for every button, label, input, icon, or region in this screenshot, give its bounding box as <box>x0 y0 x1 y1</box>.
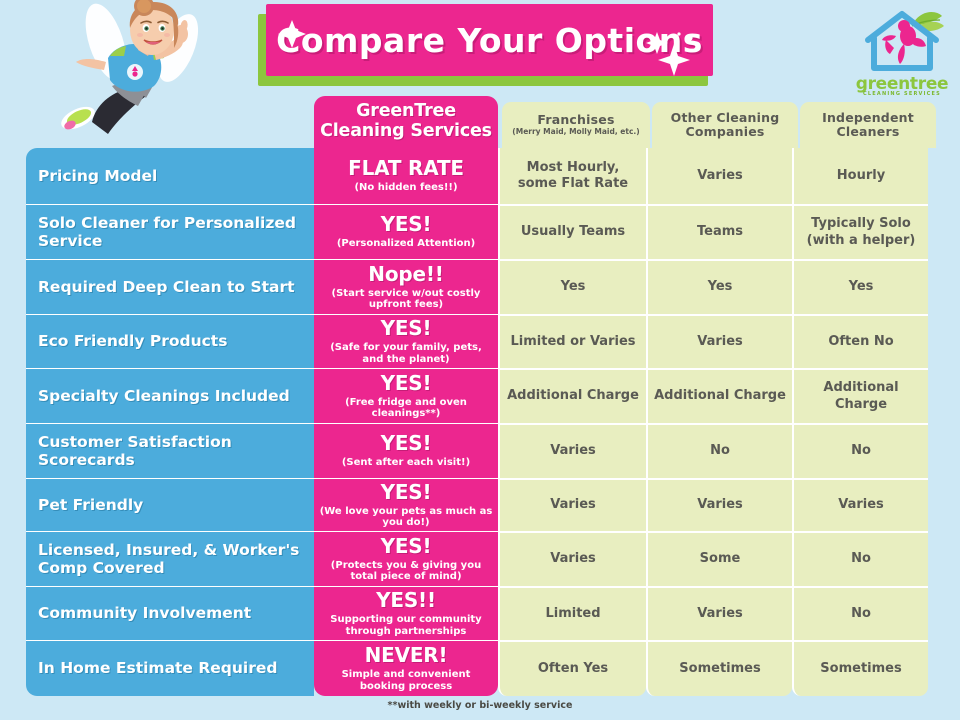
greentree-answer-sub: (No hidden fees!!) <box>354 182 457 194</box>
other-companies-answer-cell: No <box>646 423 792 478</box>
independent-answer-cell: No <box>792 423 928 478</box>
franchises-answer-cell: Additional Charge <box>498 368 646 423</box>
greentree-answer-cell: YES!(Protects you & giving you total pie… <box>314 531 498 586</box>
greentree-answer-main: YES!! <box>376 590 436 611</box>
independent-answer-cell: Hourly <box>792 148 928 204</box>
greentree-answer-cell: YES!!Supporting our community through pa… <box>314 586 498 640</box>
feature-label-cell: Eco Friendly Products <box>26 314 314 368</box>
greentree-answer-cell: YES!(Safe for your family, pets, and the… <box>314 314 498 368</box>
other-companies-answer-cell: Sometimes <box>646 640 792 696</box>
greentree-logo: greentree CLEANING SERVICES <box>852 6 952 104</box>
greentree-answer-cell: YES!(Personalized Attention) <box>314 204 498 259</box>
greentree-answer-sub: (Sent after each visit!) <box>342 457 470 469</box>
table-row: Solo Cleaner for Personalized ServiceYES… <box>26 204 936 259</box>
greentree-answer-sub: (Free fridge and oven cleanings**) <box>319 397 493 420</box>
independent-answer-cell: No <box>792 586 928 640</box>
greentree-answer-sub: Simple and convenient booking process <box>319 669 493 692</box>
column-header-other-cleaning-companies: Other Cleaning Companies <box>652 102 798 148</box>
greentree-answer-main: YES! <box>381 433 432 454</box>
greentree-answer-cell: YES!(We love your pets as much as you do… <box>314 478 498 531</box>
franchises-header-sub: (Merry Maid, Molly Maid, etc.) <box>508 128 643 137</box>
feature-label-cell: Required Deep Clean to Start <box>26 259 314 314</box>
table-row: Pet FriendlyYES!(We love your pets as mu… <box>26 478 936 531</box>
other-companies-answer-cell: Varies <box>646 148 792 204</box>
table-row: Specialty Cleanings IncludedYES!(Free fr… <box>26 368 936 423</box>
franchises-answer-cell: Yes <box>498 259 646 314</box>
table-header-row: GreenTree Cleaning Services Franchises (… <box>26 96 936 148</box>
footnote: **with weekly or bi-weekly service <box>0 700 960 711</box>
feature-label-cell: Pricing Model <box>26 148 314 204</box>
greentree-answer-cell: NEVER!Simple and convenient booking proc… <box>314 640 498 696</box>
franchises-answer-cell: Varies <box>498 478 646 531</box>
logo-house-icon <box>852 6 952 76</box>
independent-answer-cell: Varies <box>792 478 928 531</box>
greentree-answer-cell: FLAT RATE(No hidden fees!!) <box>314 148 498 204</box>
greentree-answer-sub: Supporting our community through partner… <box>319 614 493 637</box>
table-row: Eco Friendly ProductsYES!(Safe for your … <box>26 314 936 368</box>
greentree-answer-cell: Nope!!(Start service w/out costly upfron… <box>314 259 498 314</box>
title-banner-pink: Compare Your Options <box>266 4 713 76</box>
greentree-answer-main: Nope!! <box>368 264 443 285</box>
feature-label-cell: Customer Satisfaction Scorecards <box>26 423 314 478</box>
table-row: Customer Satisfaction ScorecardsYES!(Sen… <box>26 423 936 478</box>
independent-answer-cell: Yes <box>792 259 928 314</box>
feature-label-cell: Licensed, Insured, & Worker's Comp Cover… <box>26 531 314 586</box>
other-companies-answer-cell: Additional Charge <box>646 368 792 423</box>
greentree-header-line1: GreenTree <box>356 102 456 122</box>
other-companies-answer-cell: Yes <box>646 259 792 314</box>
other-companies-answer-cell: Teams <box>646 204 792 259</box>
table-row: Required Deep Clean to StartNope!!(Start… <box>26 259 936 314</box>
greentree-answer-main: YES! <box>381 482 432 503</box>
franchises-answer-cell: Most Hourly, some Flat Rate <box>498 148 646 204</box>
feature-label-cell: Solo Cleaner for Personalized Service <box>26 204 314 259</box>
franchises-answer-cell: Limited <box>498 586 646 640</box>
other-companies-answer-cell: Varies <box>646 586 792 640</box>
greentree-answer-main: NEVER! <box>365 645 448 666</box>
other-header-line1: Other Cleaning <box>671 111 780 125</box>
franchises-answer-cell: Usually Teams <box>498 204 646 259</box>
franchises-answer-cell: Often Yes <box>498 640 646 696</box>
greentree-answer-cell: YES!(Free fridge and oven cleanings**) <box>314 368 498 423</box>
other-companies-answer-cell: Varies <box>646 478 792 531</box>
column-header-franchises: Franchises (Merry Maid, Molly Maid, etc.… <box>502 102 650 148</box>
franchises-answer-cell: Limited or Varies <box>498 314 646 368</box>
greentree-answer-main: YES! <box>381 318 432 339</box>
greentree-header-line2: Cleaning Services <box>320 122 492 142</box>
greentree-answer-main: FLAT RATE <box>348 158 464 179</box>
greentree-answer-main: YES! <box>381 373 432 394</box>
table-row: Licensed, Insured, & Worker's Comp Cover… <box>26 531 936 586</box>
franchises-answer-cell: Varies <box>498 423 646 478</box>
greentree-answer-sub: (Protects you & giving you total piece o… <box>319 560 493 583</box>
independent-answer-cell: Often No <box>792 314 928 368</box>
table-body: Pricing ModelFLAT RATE(No hidden fees!!)… <box>26 148 936 696</box>
independent-answer-cell: No <box>792 531 928 586</box>
other-header-line2: Companies <box>685 125 764 139</box>
franchises-header-main: Franchises <box>537 113 614 127</box>
comparison-table: GreenTree Cleaning Services Franchises (… <box>26 96 936 696</box>
table-row: Community InvolvementYES!!Supporting our… <box>26 586 936 640</box>
independent-answer-cell: Sometimes <box>792 640 928 696</box>
greentree-answer-sub: (Personalized Attention) <box>337 238 475 250</box>
feature-label-cell: Specialty Cleanings Included <box>26 368 314 423</box>
greentree-answer-sub: (Safe for your family, pets, and the pla… <box>319 342 493 365</box>
table-row: Pricing ModelFLAT RATE(No hidden fees!!)… <box>26 148 936 204</box>
other-companies-answer-cell: Varies <box>646 314 792 368</box>
independent-answer-cell: Typically Solo (with a helper) <box>792 204 928 259</box>
greentree-answer-main: YES! <box>381 536 432 557</box>
comparison-infographic: Compare Your Options <box>0 0 960 720</box>
greentree-answer-sub: (Start service w/out costly upfront fees… <box>319 288 493 311</box>
independent-header-line1: Independent <box>822 111 914 125</box>
title-banner: Compare Your Options <box>258 4 713 86</box>
column-header-greentree: GreenTree Cleaning Services <box>314 96 498 148</box>
franchises-answer-cell: Varies <box>498 531 646 586</box>
page-title: Compare Your Options <box>266 4 713 76</box>
greentree-answer-cell: YES!(Sent after each visit!) <box>314 423 498 478</box>
other-companies-answer-cell: Some <box>646 531 792 586</box>
greentree-answer-sub: (We love your pets as much as you do!) <box>319 506 493 529</box>
feature-label-cell: Community Involvement <box>26 586 314 640</box>
table-row: In Home Estimate RequiredNEVER!Simple an… <box>26 640 936 696</box>
independent-answer-cell: Additional Charge <box>792 368 928 423</box>
greentree-answer-main: YES! <box>381 214 432 235</box>
feature-label-cell: In Home Estimate Required <box>26 640 314 696</box>
column-header-independent-cleaners: Independent Cleaners <box>800 102 936 148</box>
independent-header-line2: Cleaners <box>837 125 900 139</box>
feature-label-cell: Pet Friendly <box>26 478 314 531</box>
